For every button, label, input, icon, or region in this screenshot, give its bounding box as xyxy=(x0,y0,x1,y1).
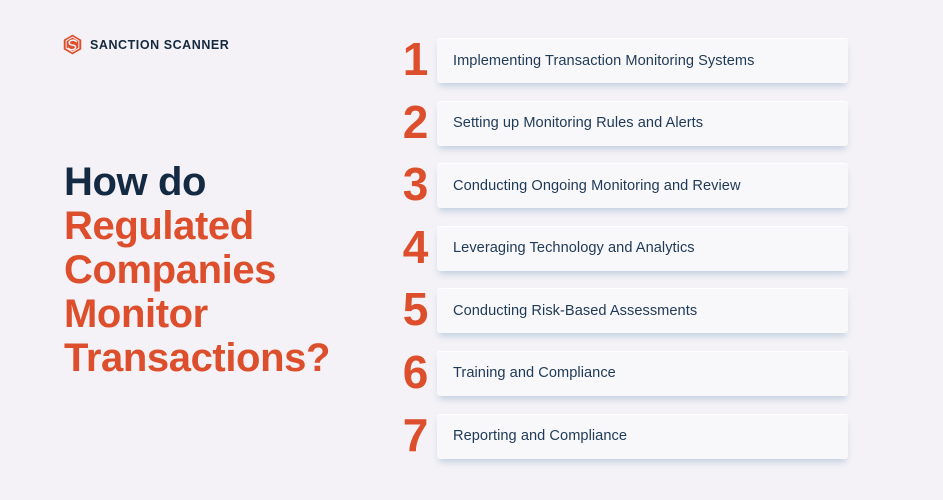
step-card: Setting up Monitoring Rules and Alerts xyxy=(437,101,848,146)
headline-line-5: Transactions? xyxy=(64,336,374,380)
list-item: 1 Implementing Transaction Monitoring Sy… xyxy=(393,36,863,99)
step-number: 5 xyxy=(393,282,437,336)
step-label: Reporting and Compliance xyxy=(437,428,639,444)
list-item: 3 Conducting Ongoing Monitoring and Revi… xyxy=(393,161,863,224)
step-number: 2 xyxy=(393,95,437,149)
step-number: 4 xyxy=(393,220,437,274)
step-label: Leveraging Technology and Analytics xyxy=(437,240,707,256)
infographic-poster: SANCTION SCANNER How do Regulated Compan… xyxy=(0,0,943,500)
headline-line-4: Monitor xyxy=(64,292,374,336)
list-item: 4 Leveraging Technology and Analytics xyxy=(393,224,863,287)
hexagon-s-logo-icon xyxy=(62,34,83,55)
step-label: Conducting Ongoing Monitoring and Review xyxy=(437,178,753,194)
list-item: 7 Reporting and Compliance xyxy=(393,412,863,475)
step-label: Implementing Transaction Monitoring Syst… xyxy=(437,53,766,69)
list-item: 6 Training and Compliance xyxy=(393,349,863,412)
list-item: 2 Setting up Monitoring Rules and Alerts xyxy=(393,99,863,162)
headline-line-3: Companies xyxy=(64,248,374,292)
step-card: Implementing Transaction Monitoring Syst… xyxy=(437,38,848,83)
brand-logo: SANCTION SCANNER xyxy=(62,34,229,55)
page-title: How do Regulated Companies Monitor Trans… xyxy=(64,160,374,380)
headline-line-2: Regulated xyxy=(64,204,374,248)
brand-name: SANCTION SCANNER xyxy=(90,38,229,52)
step-card: Reporting and Compliance xyxy=(437,414,848,459)
step-card: Conducting Risk-Based Assessments xyxy=(437,288,848,333)
step-card: Leveraging Technology and Analytics xyxy=(437,226,848,271)
headline-line-1: How do xyxy=(64,160,374,204)
step-number: 6 xyxy=(393,345,437,399)
step-card: Conducting Ongoing Monitoring and Review xyxy=(437,163,848,208)
list-item: 5 Conducting Risk-Based Assessments xyxy=(393,286,863,349)
steps-list: 1 Implementing Transaction Monitoring Sy… xyxy=(393,36,863,474)
step-number: 1 xyxy=(393,32,437,86)
step-card: Training and Compliance xyxy=(437,351,848,396)
step-label: Training and Compliance xyxy=(437,365,628,381)
step-number: 7 xyxy=(393,408,437,462)
step-label: Setting up Monitoring Rules and Alerts xyxy=(437,115,715,131)
step-label: Conducting Risk-Based Assessments xyxy=(437,303,709,319)
step-number: 3 xyxy=(393,157,437,211)
